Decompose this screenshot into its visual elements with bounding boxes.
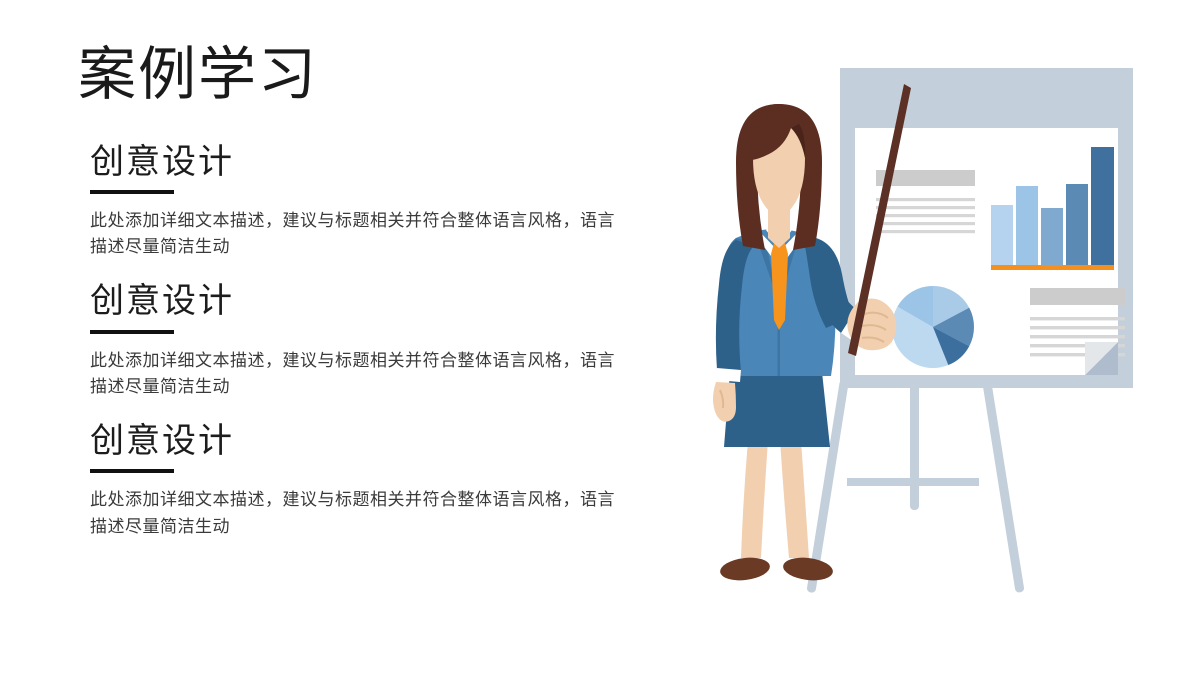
illustration-businesswoman-easel xyxy=(640,0,1200,675)
pie-chart xyxy=(892,286,974,368)
section-body-2: 此处添加详细文本描述，建议与标题相关并符合整体语言风格，语言描述尽量简洁生动 xyxy=(90,348,625,401)
bar-5 xyxy=(1091,147,1114,265)
slide-root: 案例学习 创意设计 此处添加详细文本描述，建议与标题相关并符合整体语言风格，语言… xyxy=(0,0,1200,675)
section-body-3: 此处添加详细文本描述，建议与标题相关并符合整体语言风格，语言描述尽量简洁生动 xyxy=(90,487,625,540)
easel-stand-icon xyxy=(806,379,1024,593)
person-legs xyxy=(741,440,809,558)
page-fold-corner xyxy=(1085,342,1118,375)
bar-1 xyxy=(991,205,1013,265)
heading-rule-1 xyxy=(90,190,174,194)
person-skirt xyxy=(724,372,830,447)
heading-rule-2 xyxy=(90,330,174,334)
section-block-1: 创意设计 此处添加详细文本描述，建议与标题相关并符合整体语言风格，语言描述尽量简… xyxy=(78,143,638,261)
heading-rule-3 xyxy=(90,469,174,473)
section-heading-3: 创意设计 xyxy=(90,422,638,461)
text-column: 案例学习 创意设计 此处添加详细文本描述，建议与标题相关并符合整体语言风格，语言… xyxy=(78,44,638,562)
section-heading-1: 创意设计 xyxy=(90,143,638,182)
bar-4 xyxy=(1066,184,1088,265)
section-heading-2: 创意设计 xyxy=(90,282,638,321)
bar-2 xyxy=(1016,186,1038,265)
bar-3 xyxy=(1041,208,1063,265)
chart-baseline xyxy=(991,265,1114,270)
section-block-2: 创意设计 此处添加详细文本描述，建议与标题相关并符合整体语言风格，语言描述尽量简… xyxy=(78,282,638,400)
page-title: 案例学习 xyxy=(78,44,638,107)
section-block-3: 创意设计 此处添加详细文本描述，建议与标题相关并符合整体语言风格，语言描述尽量简… xyxy=(78,422,638,540)
section-body-1: 此处添加详细文本描述，建议与标题相关并符合整体语言风格，语言描述尽量简洁生动 xyxy=(90,208,625,261)
